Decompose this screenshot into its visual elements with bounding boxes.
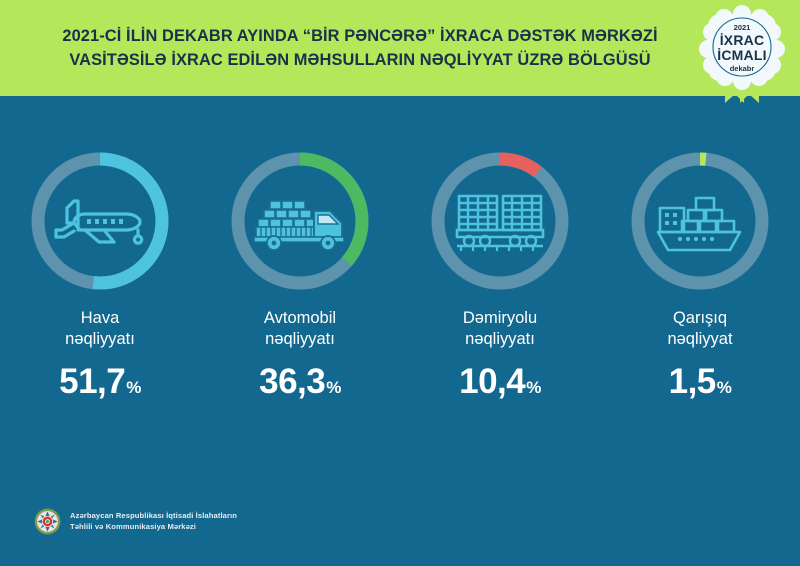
footer-organization-name: Azərbaycan Respublikası İqtisadi İslahat… (70, 511, 237, 532)
chart-value-number-qarisiq: 1,5 (669, 364, 716, 400)
header-banner: 2021-Cİ İLİN DEKABR AYINDA “BİR PƏNCƏRƏ”… (0, 0, 800, 96)
chart-label-demiryolu: Dəmiryolu nəqliyyatı (463, 308, 537, 350)
chart-label-hava: Hava nəqliyyatı (65, 308, 135, 350)
donut-chart-row: Hava nəqliyyatı 51,7% (0, 150, 800, 430)
percent-symbol-demiryolu: % (526, 370, 541, 406)
airplane-icon (29, 150, 171, 292)
donut-ring-demiryolu (429, 150, 571, 292)
chart-value-number-hava: 51,7 (59, 364, 125, 400)
ixrac-icmali-badge: 2021 İXRAC İCMALI dekabr (694, 2, 790, 106)
chart-item-avtomobil: Avtomobil nəqliyyatı 36,3% (200, 150, 400, 430)
chart-value-hava: 51,7% (59, 364, 141, 406)
percent-symbol-qarisiq: % (717, 370, 732, 406)
chart-value-qarisiq: 1,5% (669, 364, 732, 406)
chart-value-number-avtomobil: 36,3 (259, 364, 325, 400)
infographic-poster: 2021-Cİ İLİN DEKABR AYINDA “BİR PƏNCƏRƏ”… (0, 0, 800, 566)
azerbaijan-state-emblem-icon (34, 508, 61, 535)
chart-item-demiryolu: Dəmiryolu nəqliyyatı 10,4% (400, 150, 600, 430)
donut-ring-hava (29, 150, 171, 292)
truck-icon (229, 150, 371, 292)
donut-ring-avtomobil (229, 150, 371, 292)
footer-credit: Azərbaycan Respublikası İqtisadi İslahat… (34, 508, 237, 535)
chart-value-number-demiryolu: 10,4 (459, 364, 525, 400)
train-icon (429, 150, 571, 292)
ship-icon (629, 150, 771, 292)
chart-label-qarisiq: Qarışıq nəqliyyat (667, 308, 732, 350)
donut-ring-qarisiq (629, 150, 771, 292)
percent-symbol-avtomobil: % (326, 370, 341, 406)
chart-item-qarisiq: Qarışıq nəqliyyat 1,5% (600, 150, 800, 430)
page-title: 2021-Cİ İLİN DEKABR AYINDA “BİR PƏNCƏRƏ”… (30, 24, 690, 72)
percent-symbol-hava: % (126, 370, 141, 406)
badge-rosette-shape (694, 2, 790, 106)
chart-value-demiryolu: 10,4% (459, 364, 541, 406)
chart-value-avtomobil: 36,3% (259, 364, 341, 406)
chart-item-hava: Hava nəqliyyatı 51,7% (0, 150, 200, 430)
chart-label-avtomobil: Avtomobil nəqliyyatı (264, 308, 336, 350)
